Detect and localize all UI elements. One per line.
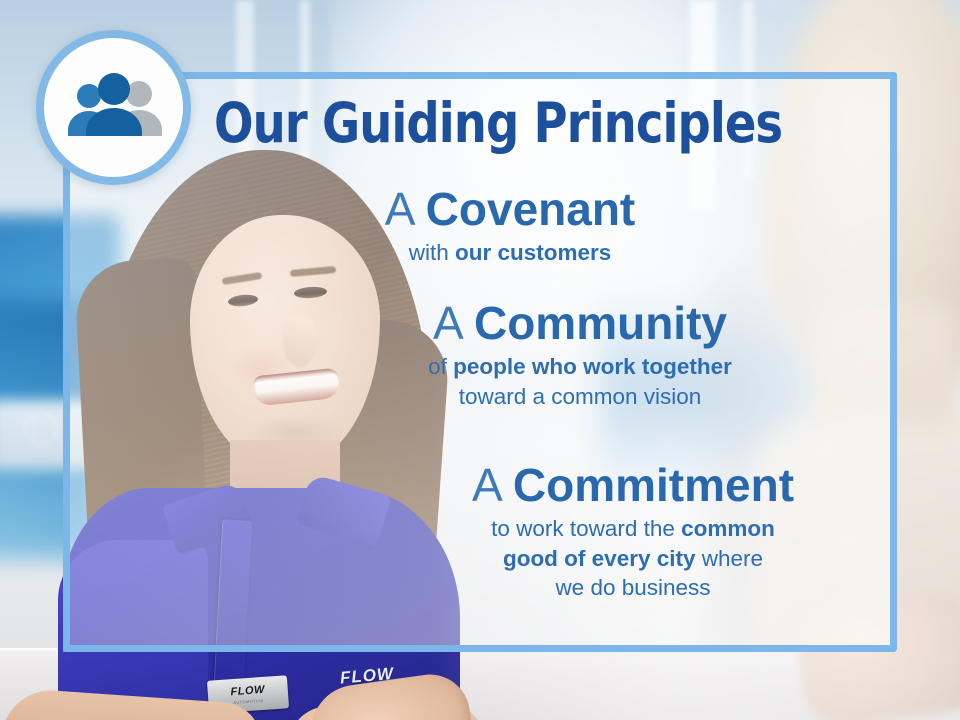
- principle-covenant: A Covenant with our customers: [300, 186, 720, 268]
- principle-3-keyword: Commitment: [513, 459, 794, 511]
- principle-2-detail-bold: people who work together: [453, 354, 732, 379]
- principle-community: A Community of people who work together …: [340, 300, 820, 411]
- name-badge-subtext: AUTOMOTIVE: [233, 697, 264, 704]
- principle-3-detail-line-3: we do business: [398, 573, 868, 603]
- principle-3-article: A: [472, 459, 513, 511]
- group-of-people-icon: [36, 30, 191, 185]
- principle-3-detail-bold-b: good of every city: [503, 546, 696, 571]
- group-of-people-glyph: [59, 72, 169, 144]
- principle-3-detail-line-1: to work toward the common: [398, 514, 868, 544]
- principle-2-detail: of people who work together toward a com…: [340, 352, 820, 411]
- page-title: Our Guiding Principles: [214, 96, 834, 151]
- principle-3-detail-light-b: where: [696, 546, 764, 571]
- principle-2-detail-line-2: toward a common vision: [340, 382, 820, 412]
- principle-2-detail-line-1: of people who work together: [340, 352, 820, 382]
- principle-3-detail: to work toward the common good of every …: [398, 514, 868, 603]
- employee-nose: [283, 315, 317, 367]
- principle-1-detail: with our customers: [300, 238, 720, 268]
- principle-1-article: A: [385, 183, 426, 235]
- principle-2-title: A Community: [340, 300, 820, 347]
- principle-1-detail-light: with: [409, 240, 455, 265]
- principle-2-detail-light: of: [428, 354, 453, 379]
- principle-3-detail-bold-a: common: [681, 516, 775, 541]
- principle-1-detail-bold: our customers: [455, 240, 611, 265]
- principle-1-keyword: Covenant: [426, 183, 636, 235]
- principle-2-keyword: Community: [474, 297, 727, 349]
- principle-3-title: A Commitment: [398, 462, 868, 509]
- principle-3-detail-light-a: to work toward the: [491, 516, 681, 541]
- principle-3-detail-line-2: good of every city where: [398, 544, 868, 574]
- name-badge-logo: FLOW: [230, 684, 265, 697]
- principle-1-title: A Covenant: [300, 186, 720, 233]
- banner-graphic: FLOW FLOW AUTOMOTIVE: [0, 0, 960, 720]
- principle-2-article: A: [433, 297, 474, 349]
- principle-commitment: A Commitment to work toward the common g…: [398, 462, 868, 603]
